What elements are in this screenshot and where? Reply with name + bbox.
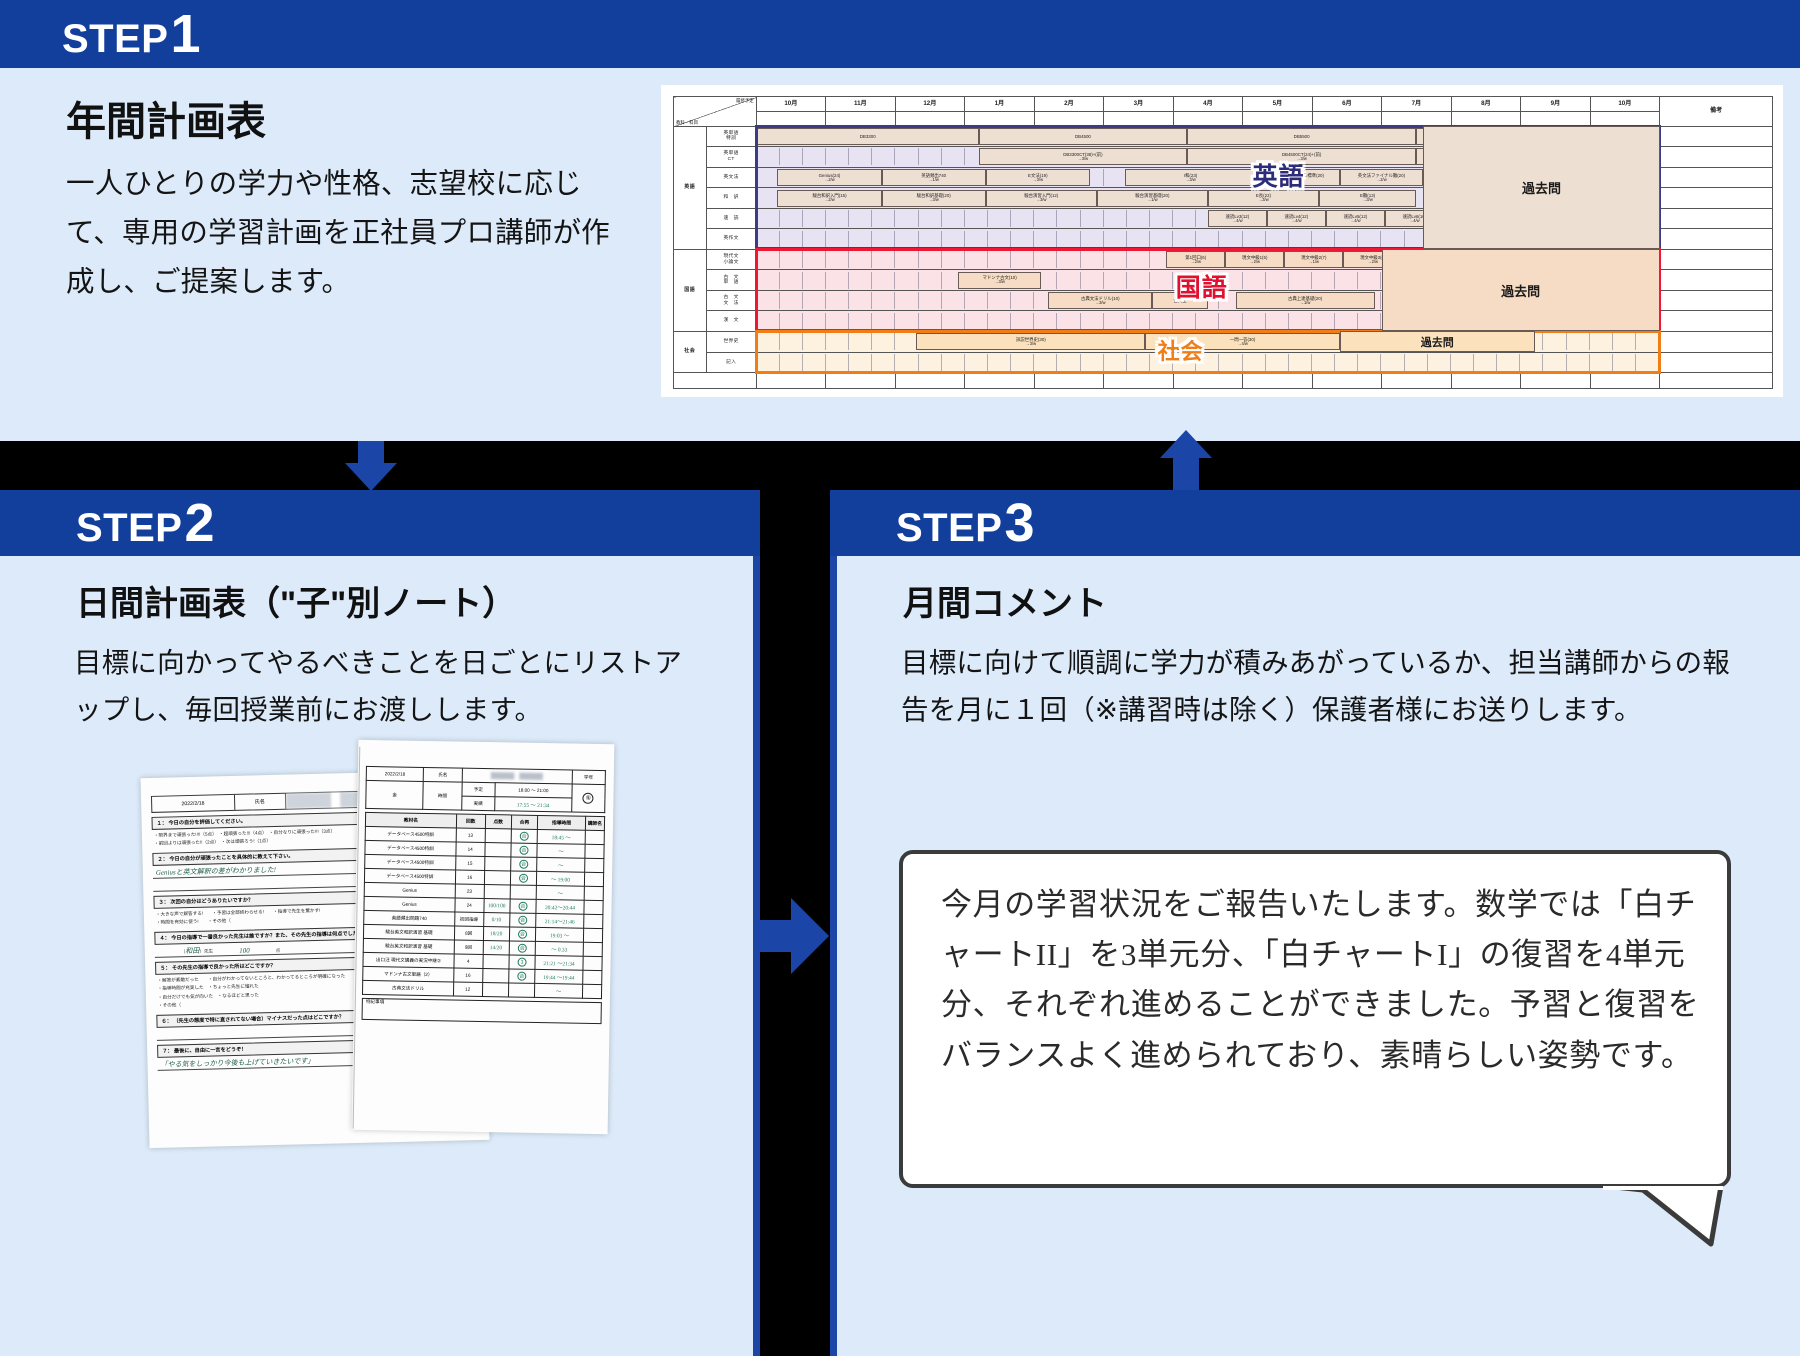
plan-footer-cell	[1104, 373, 1174, 389]
step1-badge-number: 1	[170, 7, 201, 61]
plan-block: Genius(24)→2/w	[777, 169, 881, 186]
record-material: データベース4500特訓	[364, 868, 455, 884]
plan-row-label: 英単語特訓	[706, 126, 756, 147]
plan-block: 駿台演習入門(12)→3/w	[986, 190, 1097, 207]
plan-row-label: 現代文小論文	[706, 249, 756, 270]
arrow-right-head	[791, 898, 829, 974]
monthly-comment-bubble: 今月の学習状況をご報告いたします。数学では「白チャートII」を3単元分、「白チャ…	[899, 850, 1731, 1188]
record-pass: 合	[509, 941, 536, 955]
bubble-tail-icon	[1603, 1186, 1723, 1248]
plan-remarks-cell	[1660, 208, 1773, 229]
record-column-header: 合再	[511, 815, 538, 829]
annual-plan-table-wrap: 履修予定教科・科目10月11月12月1月2月3月4月5月6月7月8月9月10月備…	[673, 96, 1773, 389]
plan-row-label: 記入	[706, 352, 756, 373]
questionnaire-q4-teacher-suffix: ）先生	[199, 948, 213, 953]
record-score	[485, 829, 512, 843]
plan-footer-cell	[1521, 373, 1591, 389]
daily-record-header-body: 2022/2/18 氏名 学年 金 時間 予定 18:00 ～ 21:00 ⑤ …	[366, 766, 606, 812]
questionnaire-q4-score: 100	[239, 947, 250, 955]
plan-remarks-cell	[1660, 147, 1773, 168]
plan-subheader-cell	[1173, 111, 1243, 126]
plan-block: 駿台和訳入門(15)→2/w	[777, 190, 881, 207]
plan-footer-cell	[756, 373, 826, 389]
record-count: 14	[456, 842, 485, 856]
record-score	[482, 954, 509, 968]
record-score	[484, 857, 511, 871]
plan-subheader-cell	[1521, 111, 1591, 126]
record-day: 金	[366, 780, 424, 809]
plan-block: 現文中級1(5)→2/w	[1225, 251, 1284, 268]
record-pass: 合	[509, 927, 536, 941]
plan-footer-cell	[1451, 373, 1521, 389]
record-teacher	[584, 886, 603, 900]
record-plan-label: 予定	[462, 782, 496, 797]
plan-subheader-row	[674, 111, 1773, 126]
plan-footer-cell	[1590, 373, 1660, 389]
record-name-label: 氏名	[424, 767, 462, 782]
plan-block: 速読Lv5(12)→4/w	[1326, 210, 1385, 227]
plan-row-label: 世界史	[706, 331, 756, 352]
record-time: ～	[537, 857, 585, 872]
plan-remarks-cell	[1660, 167, 1773, 188]
plan-subheader-cell	[1451, 111, 1521, 126]
plan-block: E文法(19)→3/w	[986, 169, 1090, 186]
plan-row-label: 古 文単 語	[706, 270, 756, 291]
record-column-header: 点数	[485, 815, 512, 829]
arrow-up-shaft	[1173, 456, 1199, 490]
plan-remarks-cell	[1660, 311, 1773, 332]
plan-month-header: 8月	[1451, 97, 1521, 112]
record-material: Genius	[364, 882, 455, 898]
plan-block: 速読Lv4(12)→4/w	[1267, 210, 1326, 227]
plan-block: 英文法ファイナル難(20)→2/w	[1340, 169, 1423, 186]
plan-row-label: 漢 文	[706, 311, 756, 332]
record-count: 初回指導	[455, 912, 484, 926]
plan-block: E難(13)→3/w	[1319, 190, 1416, 207]
record-teacher	[585, 858, 604, 872]
record-grade-label: 学年	[572, 770, 606, 785]
record-count: 9回	[454, 940, 483, 954]
record-score	[484, 885, 511, 899]
plan-block: 駿台演習基礎(20)→1/w	[1097, 190, 1208, 207]
plan-footer-cell	[1173, 373, 1243, 389]
plan-block: 古典文法ドリル(10)→3/w	[1048, 292, 1152, 309]
record-teacher	[583, 970, 602, 984]
step1-badge: STEP1	[62, 7, 201, 61]
step2-header: STEP2	[0, 490, 760, 556]
past-exam-block: 過去問	[1423, 126, 1659, 249]
plan-footer-cell	[895, 373, 965, 389]
record-count: 24	[455, 898, 484, 912]
social-stamp: 社会	[1154, 339, 1208, 365]
record-pass: 合	[511, 829, 538, 843]
step3-badge: STEP3	[896, 496, 1035, 550]
plan-block: DB5500	[1187, 128, 1416, 145]
record-count: 15	[455, 856, 484, 870]
record-teacher	[583, 956, 602, 970]
plan-subheader-cell	[1382, 111, 1452, 126]
arrow-down-head	[345, 463, 397, 491]
plan-footer-remarks	[1660, 373, 1773, 389]
record-teacher	[584, 900, 603, 914]
plan-remarks-cell	[1660, 352, 1773, 373]
infographic-root: STEP1 年間計画表 一人ひとりの学力や性格、志望校に応じて、専用の学習計画を…	[0, 0, 1800, 1356]
step1-body: 年間計画表 一人ひとりの学力や性格、志望校に応じて、専用の学習計画を正社員プロ講…	[0, 68, 1800, 441]
plan-footer-label	[674, 373, 757, 389]
plan-block: DB3300	[757, 128, 979, 145]
step2-badge-word: STEP	[76, 508, 182, 548]
record-column-header: 講師名	[585, 816, 604, 830]
record-date: 2022/2/18	[366, 766, 424, 781]
plan-subheader-cell	[1034, 111, 1104, 126]
step2-title: 日間計画表（"子"別ノート）	[76, 584, 516, 625]
record-seq-badge: ⑤	[571, 784, 605, 813]
plan-row-label: 速 読	[706, 208, 756, 229]
plan-block: DB4500	[979, 128, 1187, 145]
plan-footer-cell	[826, 373, 896, 389]
plan-footer-row	[674, 373, 1773, 389]
record-time: 20:42～20:44	[536, 899, 584, 914]
daily-record-header-table: 2022/2/18 氏名 学年 金 時間 予定 18:00 ～ 21:00 ⑤ …	[365, 766, 606, 813]
record-column-header: 回数	[456, 814, 485, 828]
arrow-up-head	[1160, 430, 1212, 458]
plan-footer-cell	[1382, 373, 1452, 389]
record-score	[482, 968, 509, 982]
plan-block: I和(23)→3/w	[1125, 169, 1257, 186]
plan-month-header: 10月	[1590, 97, 1660, 112]
plan-block: 第1回口(6)→2/w	[1166, 251, 1225, 268]
record-time: ～ 19:00	[536, 871, 584, 886]
plan-remarks-cell	[1660, 331, 1773, 352]
arrow-down-icon	[345, 441, 397, 491]
record-count: 4	[454, 954, 483, 968]
daily-record-table: 教材名回数点数合再指導時間講師名 データベース4500特訓13合18:45 ～デ…	[362, 812, 605, 999]
record-teacher	[585, 830, 604, 844]
plan-row-label: 英単語CT	[706, 147, 756, 168]
record-time: ～	[536, 885, 584, 900]
annual-plan-table-image: 履修予定教科・科目10月11月12月1月2月3月4月5月6月7月8月9月10月備…	[661, 85, 1783, 397]
record-score: 0/10	[483, 913, 510, 927]
plan-subheader-cell	[1243, 111, 1313, 126]
questionnaire-q4-score-unit: 点	[276, 948, 281, 954]
plan-corner-cell: 履修予定教科・科目	[674, 97, 757, 127]
record-material: マドンナ古文単語（2）	[363, 966, 454, 982]
plan-subject-label: 英語	[674, 126, 707, 249]
plan-block: 駿台和訳基礎(20)→3/w	[882, 190, 986, 207]
record-count: 23	[455, 884, 484, 898]
plan-month-header: 1月	[965, 97, 1035, 112]
record-score	[484, 843, 511, 857]
plan-remarks-cell	[1660, 270, 1773, 291]
plan-block: 英語頻出740→1/w	[882, 169, 986, 186]
record-time: ～ 0.33	[535, 941, 583, 956]
record-score: 100/100	[483, 899, 510, 913]
record-pass: 合	[509, 913, 536, 927]
plan-month-header: 4月	[1173, 97, 1243, 112]
questionnaire-date: 2022/2/18	[152, 795, 235, 812]
plan-subheader-cell	[965, 111, 1035, 126]
plan-month-header: 12月	[895, 97, 965, 112]
record-time: ～	[537, 843, 585, 858]
record-time-label: 時間	[423, 781, 462, 810]
plan-month-header: 10月	[756, 97, 826, 112]
plan-subject-label: 国語	[674, 249, 707, 331]
record-time: 19:44 ～19:44	[535, 969, 583, 984]
plan-subheader-cell	[895, 111, 965, 126]
record-pass: 3	[509, 955, 536, 969]
arrow-right-shaft	[757, 920, 795, 952]
plan-row-label: 和 訳	[706, 188, 756, 209]
plan-footer-cell	[1034, 373, 1104, 389]
record-score: 14/20	[483, 940, 510, 954]
record-time: 21:14～21:46	[536, 913, 584, 928]
english-stamp: 英語	[1249, 163, 1309, 192]
plan-remarks-cell	[1660, 290, 1773, 311]
plan-subheader-cell	[1590, 111, 1660, 126]
record-name-blur	[491, 772, 543, 780]
plan-subject-label: 社会	[674, 331, 707, 372]
step3-badge-number: 3	[1004, 496, 1035, 550]
record-pass: 合	[510, 871, 537, 885]
japanese-stamp: 国語	[1172, 274, 1232, 303]
plan-footer-cell	[1243, 373, 1313, 389]
record-notes: 特記事項	[362, 998, 602, 1024]
plan-remarks-cell	[1660, 126, 1773, 147]
step3-header: STEP3	[830, 490, 1800, 556]
plan-row-track	[756, 352, 1660, 373]
daily-record-inner: 2022/2/18 氏名 学年 金 時間 予定 18:00 ～ 21:00 ⑤ …	[352, 740, 615, 1134]
record-teacher	[584, 914, 603, 928]
step2-description: 目標に向かってやるべきことを日ごとにリストアップし、毎回授業前にお渡しします。	[74, 639, 696, 734]
plan-row-label: 古 文文 法	[706, 290, 756, 311]
record-teacher	[583, 928, 602, 942]
questionnaire-q7-handwriting: 「やる気をしっかり今後も上げていきたいです」	[160, 1056, 314, 1070]
plan-footer-cell	[965, 373, 1035, 389]
record-score	[482, 982, 509, 996]
record-pass	[510, 885, 537, 899]
plan-month-header: 5月	[1243, 97, 1313, 112]
record-count: 13	[456, 828, 485, 842]
plan-header-row: 履修予定教科・科目10月11月12月1月2月3月4月5月6月7月8月9月10月備…	[674, 97, 1773, 112]
plan-block: マドンナ古文(10)→3/w	[958, 272, 1041, 289]
plan-remarks-cell	[1660, 188, 1773, 209]
record-actual-label: 実績	[461, 796, 495, 811]
record-column-header: 指導時間	[537, 815, 585, 830]
record-time: 21:21 ～21:34	[535, 955, 583, 970]
daily-record-photo: 2022/2/18 氏名 学年 金 時間 予定 18:00 ～ 21:00 ⑤ …	[352, 740, 615, 1134]
plan-month-header: 9月	[1521, 97, 1591, 112]
plan-month-header: 2月	[1034, 97, 1104, 112]
record-teacher	[582, 984, 601, 998]
plan-block: 現文中級2(7)→1/w	[1284, 251, 1343, 268]
plan-month-header: 7月	[1382, 97, 1452, 112]
plan-subheader-cell	[1312, 111, 1382, 126]
arrow-down-shaft	[358, 441, 384, 465]
step3-title: 月間コメント	[903, 584, 1107, 625]
step1-badge-word: STEP	[62, 19, 168, 59]
step3-description: 目標に向けて順調に学力が積みあがっているか、担当講師からの報告を月に１回（※講習…	[901, 639, 1731, 734]
plan-block: DB3300CT(38)+(前)→3/w	[979, 148, 1187, 165]
record-seq-number: ⑤	[583, 793, 594, 804]
record-plan-value: 18:00 ～ 21:00	[495, 783, 572, 798]
plan-subheader-cell	[1104, 111, 1174, 126]
record-time: ～	[535, 983, 583, 998]
step3-badge-word: STEP	[896, 508, 1002, 548]
plan-subheader-cell	[756, 111, 826, 126]
record-count: 8回	[454, 926, 483, 940]
step1-header: STEP1	[0, 0, 1800, 68]
record-pass	[508, 983, 535, 997]
plan-month-header: 11月	[826, 97, 896, 112]
step1-title: 年間計画表	[66, 98, 266, 146]
plan-footer-cell	[1312, 373, 1382, 389]
plan-remarks-cell	[1660, 249, 1773, 270]
daily-record-tbody: データベース4500特訓13合18:45 ～データベース4500特訓14合～デー…	[362, 826, 604, 998]
record-score	[484, 871, 511, 885]
arrow-up-icon	[1160, 430, 1212, 490]
record-count: 16	[455, 870, 484, 884]
record-teacher	[583, 942, 602, 956]
plan-block: 詳説世界史(30)→3/w	[916, 333, 1145, 350]
step3-panel: STEP3 月間コメント 目標に向けて順調に学力が積みあがっているか、担当講師か…	[830, 490, 1800, 1356]
plan-row-label: 英文法	[706, 167, 756, 188]
step3-body: 月間コメント 目標に向けて順調に学力が積みあがっているか、担当講師からの報告を月…	[830, 556, 1800, 1356]
record-count: 12	[453, 982, 482, 996]
record-actual-value: 17:55 ～ 21:34	[495, 797, 572, 812]
past-exam-block: 過去問	[1382, 249, 1660, 331]
plan-month-header: 3月	[1104, 97, 1174, 112]
plan-row: 社会世界史詳説世界史(30)→3/w一問一答(30)→4/w	[674, 331, 1773, 352]
plan-block: 速読Lv3(12)→4/w	[1208, 210, 1267, 227]
record-teacher	[584, 872, 603, 886]
plan-remarks-header: 備考	[1660, 97, 1773, 127]
step2-badge: STEP2	[76, 496, 215, 550]
record-pass: 合	[508, 969, 535, 983]
plan-row: 記入	[674, 352, 1773, 373]
record-count: 16	[454, 968, 483, 982]
plan-remarks-cell	[1660, 229, 1773, 250]
plan-block: 古典上達基礎(20)→1/w	[1236, 292, 1375, 309]
monthly-comment-text: 今月の学習状況をご報告いたします。数学では「白チャートII」を3単元分、「白チャ…	[941, 880, 1701, 1081]
step1-description: 一人ひとりの学力や性格、志望校に応じて、専用の学習計画を正社員プロ講師が作成し、…	[66, 160, 626, 307]
plan-month-header: 6月	[1312, 97, 1382, 112]
questionnaire-name-label: 氏名	[235, 794, 286, 810]
record-material: 古典文法ドリル	[362, 980, 453, 996]
plan-row-label: 英作文	[706, 229, 756, 250]
record-time: 19:03 ～	[535, 927, 583, 942]
arrow-right-icon	[757, 898, 829, 974]
record-pass: 合	[510, 857, 537, 871]
past-exam-block: 過去問	[1340, 331, 1535, 352]
step1-panel: STEP1 年間計画表 一人ひとりの学力や性格、志望校に応じて、専用の学習計画を…	[0, 0, 1800, 441]
record-pass: 合	[510, 899, 537, 913]
record-score: 18/20	[483, 927, 510, 941]
record-material: Genius	[364, 896, 455, 912]
record-pass: 合	[511, 843, 538, 857]
record-row: 古典文法ドリル12～	[362, 980, 601, 998]
record-teacher	[585, 844, 604, 858]
record-time: 18:45 ～	[537, 829, 585, 844]
plan-subheader-cell	[826, 111, 896, 126]
questionnaire-q4-teacher: 和田	[185, 947, 199, 955]
step2-badge-number: 2	[184, 496, 215, 550]
